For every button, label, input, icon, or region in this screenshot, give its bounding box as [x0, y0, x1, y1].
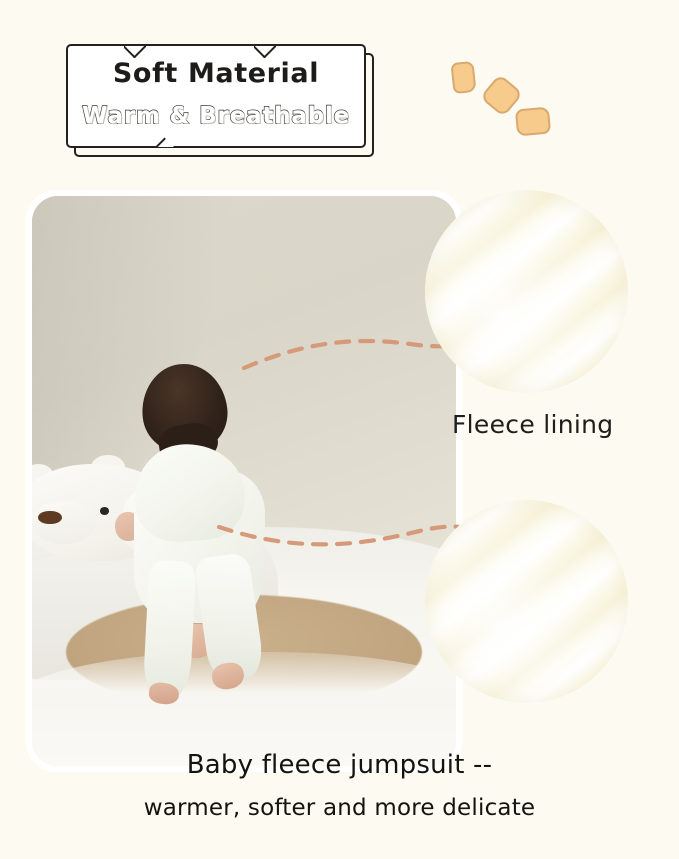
fleece-circle-edge — [425, 500, 628, 703]
product-detail-page: Soft Material Warm & Breathable — [0, 0, 679, 859]
fleece-closeup-bottom — [425, 500, 628, 703]
badge-box: Soft Material Warm & Breathable — [66, 44, 366, 148]
product-photo-frame — [26, 190, 462, 772]
caption-line-2: warmer, softer and more delicate — [0, 790, 679, 826]
decorative-shape-1-icon — [450, 61, 476, 94]
product-photo — [32, 196, 456, 766]
badge-notch-top-right — [254, 46, 276, 58]
fleece-lining-label: Fleece lining — [452, 410, 613, 439]
teddy-bear-nose — [38, 511, 61, 525]
fleece-closeup-top — [425, 190, 628, 393]
badge-notch-top-left — [124, 46, 146, 58]
fleece-circle-edge — [425, 190, 628, 393]
badge-title: Soft Material — [68, 58, 364, 89]
badge-subtitle: Warm & Breathable — [68, 103, 364, 129]
decorative-shape-3-icon — [515, 107, 551, 137]
caption-line-1: Baby fleece jumpsuit -- — [0, 746, 679, 784]
soft-material-badge: Soft Material Warm & Breathable — [66, 44, 376, 159]
teddy-bear-eye — [100, 507, 109, 514]
product-caption: Baby fleece jumpsuit -- warmer, softer a… — [0, 746, 679, 826]
badge-notch-bottom — [154, 135, 176, 147]
